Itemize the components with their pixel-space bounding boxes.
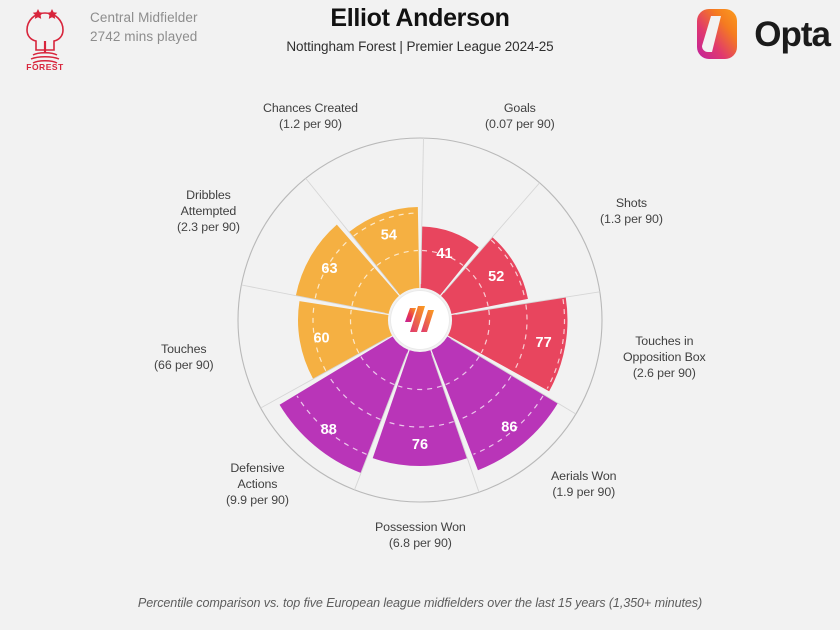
axis-label-name: Attempted	[177, 204, 240, 220]
opta-wordmark: Opta	[754, 17, 830, 52]
axis-label-name: Dribbles	[177, 188, 240, 204]
opta-o-logo-icon	[690, 7, 744, 61]
axis-label-name: Aerials Won	[551, 469, 616, 485]
player-position: Central Midfielder	[90, 9, 198, 28]
opta-brand: Opta	[690, 6, 830, 62]
axis-label-name: Possession Won	[375, 520, 466, 536]
slice-value: 54	[381, 227, 397, 243]
axis-label: Touches inOpposition Box(2.6 per 90)	[623, 334, 706, 382]
axis-label: Possession Won(6.8 per 90)	[375, 520, 466, 552]
axis-label: Shots(1.3 per 90)	[600, 196, 663, 228]
opta-slash-icon	[403, 305, 437, 335]
axis-label-name: Chances Created	[263, 101, 358, 117]
axis-label-per90: (6.8 per 90)	[375, 536, 466, 552]
page-title: Elliot Anderson	[240, 4, 600, 33]
centre-badge	[391, 291, 449, 349]
axis-label-per90: (66 per 90)	[154, 358, 214, 374]
svg-text:FOREST: FOREST	[26, 62, 64, 72]
header: FOREST Central Midfielder 2742 mins play…	[0, 0, 840, 78]
axis-label-per90: (2.6 per 90)	[623, 366, 706, 382]
slice-value: 52	[488, 269, 504, 285]
page-subtitle: Nottingham Forest | Premier League 2024-…	[240, 39, 600, 54]
axis-label: Goals(0.07 per 90)	[485, 101, 555, 133]
axis-label: DefensiveActions(9.9 per 90)	[226, 461, 289, 509]
axis-label: Touches(66 per 90)	[154, 342, 214, 374]
axis-label-name: Shots	[600, 196, 663, 212]
title-block: Elliot Anderson Nottingham Forest | Prem…	[240, 4, 600, 54]
axis-label-per90: (2.3 per 90)	[177, 220, 240, 236]
slice-value: 88	[321, 422, 337, 438]
axis-label-name: Actions	[226, 477, 289, 493]
axis-label-per90: (1.9 per 90)	[551, 485, 616, 501]
axis-label-name: Touches in	[623, 334, 706, 350]
axis-label: Chances Created(1.2 per 90)	[263, 101, 358, 133]
axis-label: Aerials Won(1.9 per 90)	[551, 469, 616, 501]
axis-label-name: Opposition Box	[623, 350, 706, 366]
axis-label-per90: (1.2 per 90)	[263, 117, 358, 133]
slice-value: 76	[412, 437, 428, 453]
axis-label-per90: (9.9 per 90)	[226, 493, 289, 509]
axis-label-name: Defensive	[226, 461, 289, 477]
slice-value: 86	[501, 419, 517, 435]
axis-label: DribblesAttempted(2.3 per 90)	[177, 188, 240, 236]
slice-value: 63	[321, 261, 337, 277]
axis-label-name: Goals	[485, 101, 555, 117]
slice-value: 60	[313, 330, 329, 346]
axis-label-per90: (0.07 per 90)	[485, 117, 555, 133]
axis-label-per90: (1.3 per 90)	[600, 212, 663, 228]
axis-label-name: Touches	[154, 342, 214, 358]
slice-value: 41	[436, 246, 452, 262]
nottingham-forest-crest-icon: FOREST	[14, 6, 76, 72]
player-minutes: 2742 mins played	[90, 28, 198, 47]
slice-value: 77	[536, 335, 552, 351]
player-meta: Central Midfielder 2742 mins played	[90, 9, 198, 46]
pizza-chart: 415277867688606354 Goals(0.07 per 90)Sho…	[0, 78, 840, 578]
footnote: Percentile comparison vs. top five Europ…	[0, 596, 840, 610]
